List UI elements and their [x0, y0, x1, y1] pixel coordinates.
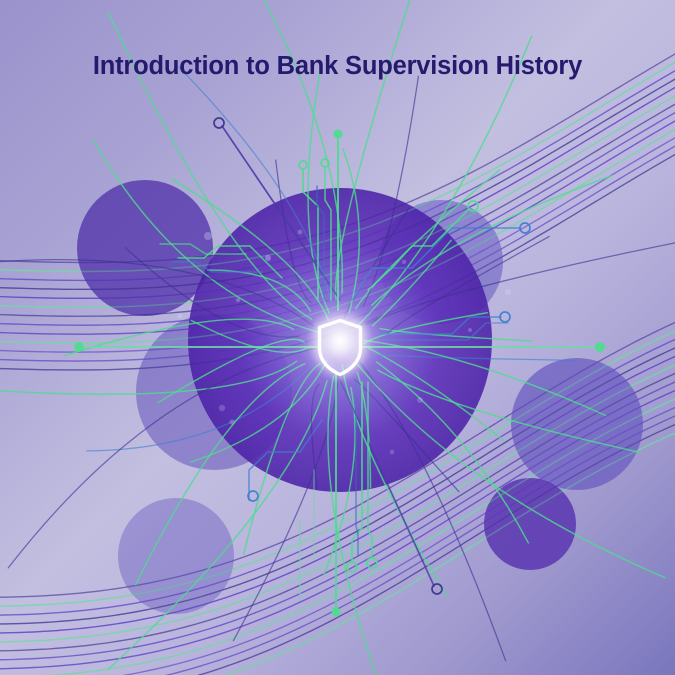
decorative-speck [468, 328, 472, 332]
decorative-speck [236, 298, 240, 302]
node-green-right-axis [595, 342, 605, 352]
decorative-speck [417, 397, 423, 403]
node-green-left-axis [74, 342, 84, 352]
decorative-speck [177, 313, 182, 318]
core-glow-group [240, 241, 440, 441]
decorative-speck [390, 450, 395, 455]
node-green-bottom [332, 608, 341, 617]
node-green-top [334, 130, 343, 139]
decorative-speck [219, 405, 225, 411]
decorative-speck [204, 232, 212, 240]
background-illustration [0, 0, 675, 675]
decorative-speck [402, 260, 406, 264]
decorative-speck [229, 419, 234, 424]
decorative-speck [265, 255, 271, 261]
slide-canvas: Introduction to Bank Supervision History [0, 0, 675, 675]
blob-lower-left [118, 498, 234, 614]
blob-upper-left [77, 180, 213, 316]
decorative-speck [298, 230, 303, 235]
decorative-speck [505, 289, 511, 295]
